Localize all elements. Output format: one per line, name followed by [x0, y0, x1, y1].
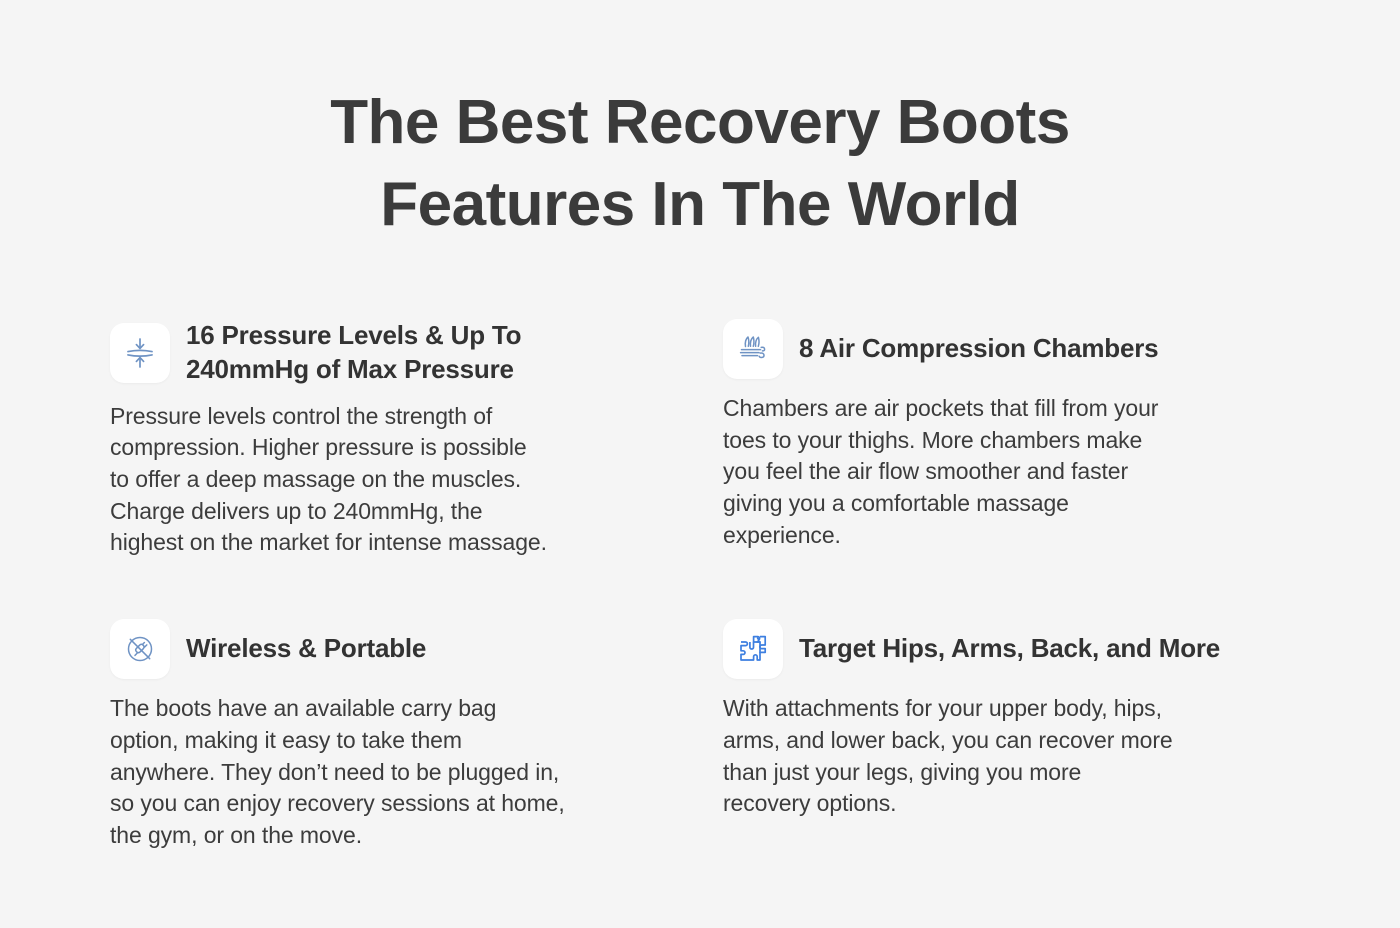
feature-description: Pressure levels control the strength of …: [110, 401, 690, 560]
feature-description-line: so you can enjoy recovery sessions at ho…: [110, 788, 690, 820]
feature-page: The Best Recovery Boots Features In The …: [0, 0, 1400, 928]
feature-description-line: toes to your thighs. More chambers make: [723, 425, 1303, 457]
page-title-line-1: The Best Recovery Boots: [0, 82, 1400, 164]
feature-description-line: compression. Higher pressure is possible: [110, 432, 690, 464]
puzzle-pieces-icon: [723, 619, 783, 679]
feature-description: Chambers are air pockets that fill from …: [723, 393, 1303, 552]
page-title: The Best Recovery Boots Features In The …: [0, 0, 1400, 247]
feature-header: 8 Air Compression Chambers: [723, 319, 1303, 379]
feature-description-line: Charge delivers up to 240mmHg, the: [110, 496, 690, 528]
feature-grid: 16 Pressure Levels & Up To 240mmHg of Ma…: [0, 319, 1400, 852]
feature-description-line: Chambers are air pockets that fill from …: [723, 393, 1303, 425]
feature-card-wireless-portable: Wireless & Portable The boots have an av…: [110, 619, 690, 852]
feature-title-line-1: Target Hips, Arms, Back, and More: [799, 632, 1220, 666]
feature-title: 16 Pressure Levels & Up To 240mmHg of Ma…: [186, 319, 521, 387]
no-plug-wireless-icon: [110, 619, 170, 679]
feature-title-line-2: 240mmHg of Max Pressure: [186, 353, 521, 387]
feature-description-line: option, making it easy to take them: [110, 725, 690, 757]
feature-description-line: to offer a deep massage on the muscles.: [110, 464, 690, 496]
feature-description-line: anywhere. They don’t need to be plugged …: [110, 757, 690, 789]
feature-description-line: the gym, or on the move.: [110, 820, 690, 852]
feature-title: Wireless & Portable: [186, 632, 426, 666]
feature-description-line: giving you a comfortable massage: [723, 488, 1303, 520]
feature-description-line: arms, and lower back, you can recover mo…: [723, 725, 1303, 757]
feature-header: Target Hips, Arms, Back, and More: [723, 619, 1303, 679]
feature-title-line-1: 8 Air Compression Chambers: [799, 332, 1158, 366]
feature-title: Target Hips, Arms, Back, and More: [799, 632, 1220, 666]
feature-description-line: than just your legs, giving you more: [723, 757, 1303, 789]
feature-card-air-chambers: 8 Air Compression Chambers Chambers are …: [723, 319, 1303, 559]
feature-description-line: The boots have an available carry bag: [110, 693, 690, 725]
feature-header: 16 Pressure Levels & Up To 240mmHg of Ma…: [110, 319, 690, 387]
feature-description-line: Pressure levels control the strength of: [110, 401, 690, 433]
feature-description-line: recovery options.: [723, 788, 1303, 820]
feature-card-target-areas: Target Hips, Arms, Back, and More With a…: [723, 619, 1303, 852]
compression-arrows-icon: [110, 323, 170, 383]
feature-header: Wireless & Portable: [110, 619, 690, 679]
feature-description-line: With attachments for your upper body, hi…: [723, 693, 1303, 725]
feature-description: The boots have an available carry bag op…: [110, 693, 690, 852]
feature-title: 8 Air Compression Chambers: [799, 332, 1158, 366]
feature-title-line-1: 16 Pressure Levels & Up To: [186, 319, 521, 353]
feature-description-line: experience.: [723, 520, 1303, 552]
feature-description-line: you feel the air flow smoother and faste…: [723, 456, 1303, 488]
feature-description-line: highest on the market for intense massag…: [110, 527, 690, 559]
feature-title-line-1: Wireless & Portable: [186, 632, 426, 666]
feature-card-pressure-levels: 16 Pressure Levels & Up To 240mmHg of Ma…: [110, 319, 690, 559]
air-flow-icon: [723, 319, 783, 379]
page-title-line-2: Features In The World: [0, 164, 1400, 246]
feature-description: With attachments for your upper body, hi…: [723, 693, 1303, 820]
